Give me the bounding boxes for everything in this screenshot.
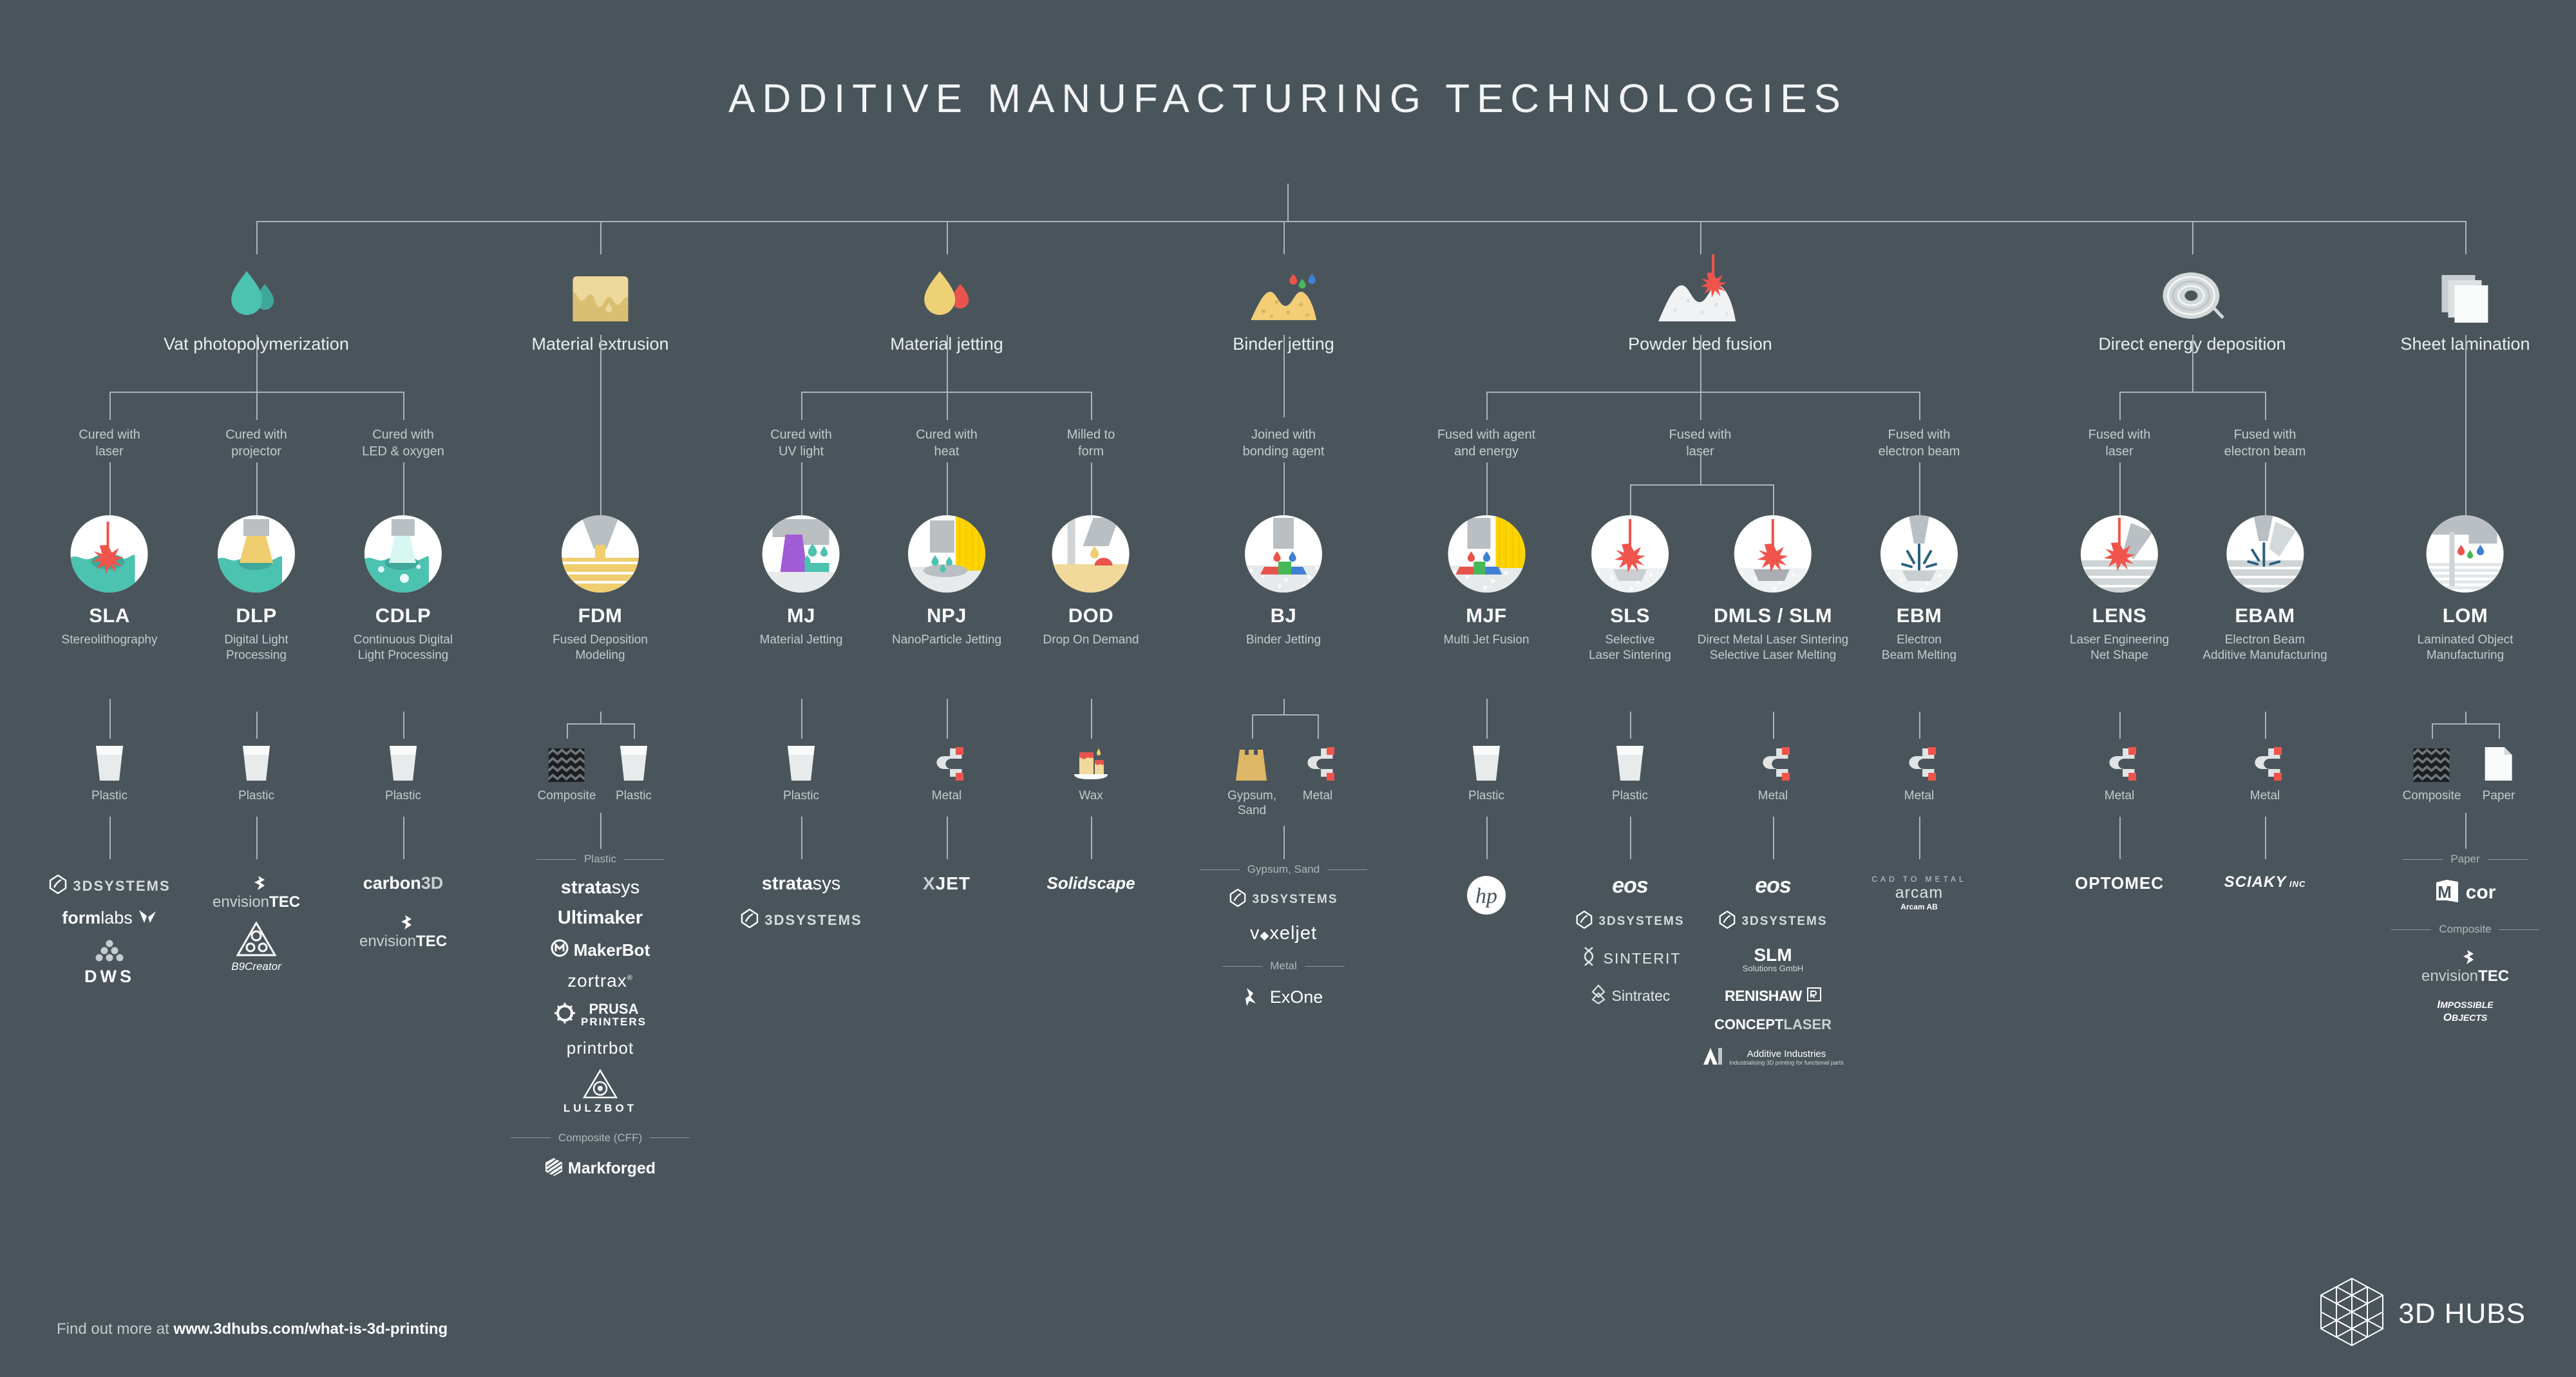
caption-stem-ebm (1919, 462, 1920, 515)
tech-to-material-ebam (2265, 712, 2266, 739)
bj-binder-head-icon (1245, 515, 1322, 593)
sinterit-logomark (1579, 946, 1598, 971)
drop-extrusion (600, 221, 601, 254)
material-label: Plastic (783, 788, 819, 803)
resin-drops-icon (164, 254, 349, 325)
material-to-brands-lens (2119, 817, 2121, 859)
tech-to-material-ebm (1919, 712, 1920, 739)
drop-sheetlam (2465, 221, 2467, 254)
tech-node-bj[interactable]: BJ Binder Jetting (1245, 515, 1322, 648)
brand-carbon3d: carbon3D (307, 875, 500, 892)
footer-link[interactable]: Find out more at www.3dhubs.com/what-is-… (57, 1320, 448, 1338)
brand-zortrax: zortrax® (504, 972, 697, 990)
family-pbf-bus (1486, 392, 1919, 393)
lom-blade-sheets-icon (2427, 515, 2504, 593)
tech-node-dmls-slm[interactable]: DMLS / SLM Direct Metal Laser SinteringS… (1698, 515, 1848, 663)
branch-drop-dlp (256, 392, 258, 420)
brand-subheading-gypsum-sand: Gypsum, Sand (1187, 863, 1380, 876)
caption-stem-dlp (256, 462, 258, 515)
material-node-metal-ebm: Metal (1902, 742, 1936, 803)
material-node-plastic-mj: Plastic (783, 742, 819, 803)
material-label: Gypsum,Sand (1227, 788, 1276, 818)
tech-to-material-dlp (256, 712, 258, 739)
cdlp-led-vat-icon (365, 515, 442, 593)
material-label: Plastic (1468, 788, 1504, 803)
tech-full-name: Stereolithography (62, 632, 158, 648)
family-matjet-stem (947, 335, 948, 392)
infographic-canvas: ADDITIVE MANUFACTURING TECHNOLOGIES Vat … (0, 0, 2576, 1377)
tech-node-lens[interactable]: LENS Laser EngineeringNet Shape (2070, 515, 2169, 663)
lom-material-bus (2432, 723, 2499, 725)
plastic-cup-icon (238, 742, 274, 782)
material-to-brands-ebam (2265, 817, 2266, 859)
formlabs-logomark (138, 909, 157, 927)
branch-caption-pbf-laser: Fused withlaser (1669, 426, 1732, 460)
markforged-logomark (545, 1157, 563, 1180)
plastic-cup-icon (783, 742, 819, 782)
paper-page-icon (2483, 742, 2515, 782)
plastic-cup-icon (1612, 742, 1648, 782)
exone-logomark (1244, 985, 1265, 1009)
tech-full-name: Digital LightProcessing (218, 632, 295, 663)
makerbot-logomark (551, 939, 569, 960)
brand-list-cdlp: carbon3D envisionTEC (307, 875, 500, 961)
material-node-plastic-mjf: Plastic (1468, 742, 1504, 803)
material-label: Metal (930, 788, 963, 803)
brand-additive-industries: Additive IndustriesIndustrialising 3D pr… (1676, 1047, 1870, 1069)
material-to-brands-sls (1630, 817, 1631, 859)
caption-stem-ebam (2265, 462, 2266, 515)
tech-node-ebm[interactable]: EBM ElectronBeam Melting (1880, 515, 1958, 663)
plastic-cup-icon (616, 742, 652, 782)
tech-node-cdlp[interactable]: CDLP Continuous DigitalLight Processing (354, 515, 453, 663)
tech-abbr: SLA (62, 604, 158, 627)
brand-slm-solutions: SLMSolutions GmbH (1676, 946, 1870, 974)
plastic-cup-icon (1468, 742, 1504, 782)
tech-to-material-mjf (1486, 699, 1488, 739)
tech-abbr: DLP (218, 604, 295, 627)
material-label: Plastic (91, 788, 128, 803)
drop-vat (256, 221, 258, 254)
footer-prefix: Find out more at (57, 1320, 173, 1338)
bj-material-drop-metal (1318, 714, 1319, 739)
material-to-brands-npj (947, 817, 948, 859)
family-binderjet-stem (1283, 335, 1285, 417)
material-node-wax-dod: Wax (1073, 742, 1109, 803)
fdm-nozzle-layers-icon (562, 515, 639, 593)
material-node-composite-lom: Composite (2403, 742, 2461, 803)
3d-systems-logomark (1718, 911, 1736, 932)
pbf-laser-bus (1630, 484, 1773, 486)
brand-subheading-composite-cff: Composite (CFF) (504, 1132, 697, 1144)
branch-drop-sls (1630, 484, 1631, 518)
branch-caption-ebm: Fused withelectron beam (1879, 426, 1960, 460)
tech-node-lom[interactable]: LOM Laminated ObjectManufacturing (2418, 515, 2514, 663)
material-to-brands-dod (1091, 817, 1092, 859)
branch-drop-mjf (1486, 392, 1488, 420)
composite-weave-icon (538, 742, 596, 782)
brand-subheading-paper: Paper (2369, 853, 2562, 866)
brand-list-fdm: Plastic stratasys Ultimaker MakerBot zor… (504, 849, 697, 1192)
npj-heat-head-icon (908, 515, 985, 593)
tech-abbr: DMLS / SLM (1698, 604, 1848, 627)
magnet-icon (2103, 742, 2136, 782)
footer-logo[interactable]: 3D HUBS (2320, 1277, 2526, 1350)
additive-industries-logomark (1702, 1047, 1724, 1069)
tech-abbr: CDLP (354, 604, 453, 627)
wire-spool-icon (2098, 254, 2286, 325)
branch-drop-mj (801, 392, 802, 420)
tech-node-sls[interactable]: SLS SelectiveLaser Sintering (1589, 515, 1671, 663)
drop-ded (2192, 221, 2193, 254)
lens-laser-deposition-icon (2081, 515, 2158, 593)
bj-material-drop-gypsum (1252, 714, 1253, 739)
branch-drop-cdlp (403, 392, 404, 420)
material-node-metal-lens: Metal (2103, 742, 2136, 803)
tech-node-npj[interactable]: NPJ NanoParticle Jetting (892, 515, 1001, 648)
branch-caption-dod: Milled toform (1067, 426, 1115, 460)
family-ded-bus (2119, 392, 2265, 393)
material-label: Plastic (385, 788, 421, 803)
brand-makerbot: MakerBot (504, 939, 697, 960)
footer-url: www.3dhubs.com/what-is-3d-printing (173, 1320, 448, 1338)
material-to-brands-dmls (1773, 817, 1774, 859)
powder-laser-icon (1628, 254, 1772, 325)
material-node-metal-npj: Metal (930, 742, 963, 803)
magnet-icon (1756, 742, 1790, 782)
branch-drop-lens (2119, 392, 2121, 420)
brand-list-lom: Paper M cor Composite envisionTEC IMPOSS… (2369, 849, 2562, 1036)
ink-drops-icon (890, 254, 1003, 325)
brand-stratasys: stratasys (504, 878, 697, 897)
svg-text:M: M (2438, 882, 2452, 902)
tech-full-name: Direct Metal Laser SinteringSelective La… (1698, 632, 1848, 663)
tech-full-name: Material Jetting (760, 632, 843, 648)
bj-material-bus (1252, 714, 1318, 716)
3d-systems-logomark (1575, 911, 1593, 932)
caption-stem-lens (2119, 462, 2121, 515)
gypsum-block-icon (1227, 742, 1276, 782)
brand-list-ebam: SCIAKY INC (2168, 875, 2362, 902)
material-label: Paper (2483, 788, 2515, 803)
lom-material-drop-composite (2432, 723, 2433, 739)
bj-material-stem (1283, 699, 1285, 714)
sintratec-logomark (1590, 984, 1607, 1008)
tech-abbr: BJ (1245, 604, 1322, 627)
branch-caption-cdlp: Cured withLED & oxygen (362, 426, 444, 460)
fdm-material-stem (600, 712, 601, 723)
branch-drop-dmls (1773, 484, 1774, 518)
brand-exone: ExOne (1187, 985, 1380, 1009)
material-label: Metal (1301, 788, 1334, 803)
brand-subheading-metal: Metal (1187, 960, 1380, 973)
magnet-icon (1301, 742, 1334, 782)
renishaw-logomark (1807, 987, 1821, 1005)
tech-abbr: MJF (1443, 604, 1529, 627)
brand-printrbot: printrbot (504, 1040, 697, 1057)
family-vat-stem (256, 335, 258, 392)
tech-node-fdm[interactable]: FDM Fused DepositionModeling (553, 515, 648, 663)
tech-to-material-mj (801, 699, 802, 739)
tech-full-name: Electron BeamAdditive Manufacturing (2202, 632, 2327, 663)
tech-full-name: SelectiveLaser Sintering (1589, 632, 1671, 663)
brand-voxeljet: v◆xeljet (1187, 924, 1380, 943)
family-ded-stem (2192, 335, 2193, 392)
branch-drop-dod (1091, 392, 1092, 420)
caption-stem-cdlp (403, 462, 404, 515)
tech-abbr: LENS (2070, 604, 2169, 627)
mjf-agent-head-icon (1448, 515, 1525, 593)
brand-concept-laser: CONCEPTLASER (1676, 1018, 1870, 1032)
tech-node-ebam[interactable]: EBAM Electron BeamAdditive Manufacturing (2202, 515, 2327, 663)
family-sheetlam-stem (2465, 335, 2467, 515)
brand-subheading-composite: Composite (2369, 923, 2562, 936)
caption-stem-dod (1091, 462, 1092, 515)
branch-drop-laser (1700, 392, 1701, 420)
plastic-cup-icon (385, 742, 421, 782)
brand-arcam: CAD TO METAL arcam Arcam AB (1823, 875, 2016, 911)
material-to-brands-sla (109, 817, 111, 859)
tech-to-material-dmls (1773, 712, 1774, 739)
material-node-composite-fdm: Composite (538, 742, 596, 803)
brand-mcor: M cor (2369, 878, 2562, 906)
tech-full-name: Drop On Demand (1043, 632, 1139, 648)
tech-abbr: DOD (1043, 604, 1139, 627)
branch-caption-lens: Fused withlaser (2088, 426, 2151, 460)
branch-drop-sla (109, 392, 111, 420)
tech-abbr: LOM (2418, 604, 2514, 627)
brand-list-bj: Gypsum, Sand 3DSYSTEMS v◆xeljet Metal Ex… (1187, 859, 1380, 1021)
tech-full-name: Laminated ObjectManufacturing (2418, 632, 2514, 663)
material-to-brands-dlp (256, 817, 258, 859)
sand-drops-icon (1233, 254, 1334, 325)
tech-node-mj[interactable]: MJ Material Jetting (760, 515, 843, 648)
fdm-material-drop-composite (567, 723, 568, 739)
tech-abbr: SLS (1589, 604, 1671, 627)
paper-sheets-icon (2400, 254, 2530, 325)
branch-caption-dlp: Cured withprojector (225, 426, 287, 460)
branch-caption-ebam: Fused withelectron beam (2224, 426, 2306, 460)
brand-renishaw: RENISHAW (1676, 987, 1870, 1005)
tech-to-material-sla (109, 699, 111, 739)
material-label: Plastic (238, 788, 274, 803)
material-to-brands-mj (801, 817, 802, 859)
material-label: Composite (2403, 788, 2461, 803)
family-pbf-stem (1700, 335, 1701, 392)
brand-markforged: Markforged (504, 1157, 697, 1180)
material-node-gypsum-sand: Gypsum,Sand (1227, 742, 1276, 818)
branch-drop-ebm (1919, 392, 1920, 420)
prusa-gear-logomark (554, 1002, 576, 1027)
lulzbot-logomark (504, 1068, 697, 1103)
brand-envisiontec: envisionTEC (2369, 949, 2562, 984)
3d-systems-logomark (1229, 889, 1247, 910)
tech-to-material-dod (1091, 699, 1092, 739)
brand-ultimaker: Ultimaker (504, 909, 697, 927)
brand-3d-systems: 3DSYSTEMS (1187, 889, 1380, 910)
mcor-logomark: M (2435, 878, 2461, 906)
material-node-plastic-fdm: Plastic (616, 742, 652, 803)
material-to-brands-fdm (600, 813, 601, 849)
material-label: Wax (1073, 788, 1109, 803)
material-node-plastic-sls: Plastic (1612, 742, 1648, 803)
brand-impossible-objects: IMPOSSIBLEOBJECTS (2369, 998, 2562, 1024)
branch-drop-npj (947, 392, 948, 420)
tech-to-material-sls (1630, 712, 1631, 739)
tech-abbr: EBAM (2202, 604, 2327, 627)
plastic-cup-icon (91, 742, 128, 782)
caption-stem-mj (801, 462, 802, 515)
family-extrusion-stem (600, 335, 601, 515)
tech-full-name: Fused DepositionModeling (553, 632, 648, 663)
tech-abbr: EBM (1880, 604, 1958, 627)
footer-brand-name: 3D HUBS (2398, 1298, 2526, 1330)
3d-systems-logomark (740, 909, 759, 931)
drop-matjet (947, 221, 948, 254)
material-label: Metal (1756, 788, 1790, 803)
material-label: Metal (1902, 788, 1936, 803)
material-label: Plastic (616, 788, 652, 803)
tech-node-mjf[interactable]: MJF Multi Jet Fusion (1443, 515, 1529, 648)
mj-uv-head-icon (762, 515, 840, 593)
tech-node-dlp[interactable]: DLP Digital LightProcessing (218, 515, 295, 663)
tech-full-name: ElectronBeam Melting (1880, 632, 1958, 663)
tech-node-sla[interactable]: SLA Stereolithography (62, 515, 158, 648)
material-node-plastic-sla: Plastic (91, 742, 128, 803)
brand-list-dod: Solidscape (994, 875, 1188, 904)
branch-caption-bj: Joined withbonding agent (1243, 426, 1325, 460)
material-label: Plastic (1612, 788, 1648, 803)
material-node-plastic-cdlp: Plastic (385, 742, 421, 803)
tech-full-name: Laser EngineeringNet Shape (2070, 632, 2169, 663)
ebm-electron-powder-icon (1880, 515, 1958, 593)
fdm-material-bus (567, 723, 634, 725)
3d-systems-logomark (48, 875, 68, 897)
sls-laser-powder-icon (1591, 515, 1669, 593)
magnet-icon (930, 742, 963, 782)
brand-sciaky: SCIAKY INC (2168, 875, 2362, 890)
material-to-brands-ebm (1919, 817, 1920, 859)
lom-material-drop-paper (2499, 723, 2500, 739)
dmls-laser-powder-icon (1734, 515, 1812, 593)
arcam-subtext: Arcam AB (1823, 902, 2016, 911)
melted-block-icon (531, 254, 668, 325)
branch-caption-sla: Cured withlaser (79, 426, 140, 460)
material-label: Metal (2103, 788, 2136, 803)
ebam-electron-deposition-icon (2226, 515, 2304, 593)
page-title: ADDITIVE MANUFACTURING TECHNOLOGIES (0, 76, 2576, 122)
tech-to-material-npj (947, 699, 948, 739)
tech-to-material-lens (2119, 712, 2121, 739)
material-to-brands-bj (1283, 826, 1285, 859)
tech-abbr: NPJ (892, 604, 1001, 627)
tech-abbr: FDM (553, 604, 648, 627)
material-to-brands-lom (2465, 813, 2467, 849)
material-node-metal-dmls: Metal (1756, 742, 1790, 803)
tech-abbr: MJ (760, 604, 843, 627)
branch-caption-mj: Cured withUV light (770, 426, 832, 460)
brand-subheading-plastic: Plastic (504, 853, 697, 866)
material-label: Metal (2248, 788, 2282, 803)
tech-to-material-cdlp (403, 712, 404, 739)
caption-stem-bj (1283, 462, 1285, 515)
drop-binderjet (1283, 221, 1285, 254)
tech-node-dod[interactable]: DOD Drop On Demand (1043, 515, 1139, 648)
magnet-icon (2248, 742, 2282, 782)
composite-weave-icon (2403, 742, 2461, 782)
svg-text:hp: hp (1475, 884, 1497, 908)
brand-prusa-printers: PRUSAPRINTERS (504, 1002, 697, 1028)
sla-laser-vat-icon (71, 515, 148, 593)
brand-list-ebm: CAD TO METAL arcam Arcam AB (1823, 875, 2016, 923)
candle-icon (1073, 742, 1109, 782)
dlp-projector-vat-icon (218, 515, 295, 593)
branch-caption-npj: Cured withheat (916, 426, 978, 460)
caption-stem-sla (109, 462, 111, 515)
arcam-tagline: CAD TO METAL (1823, 875, 2016, 884)
brand-envisiontec: envisionTEC (307, 914, 500, 949)
material-node-metal-bj: Metal (1301, 742, 1334, 803)
hexagon-mesh-logo-icon (2320, 1277, 2384, 1350)
caption-stem-mjf (1486, 462, 1488, 515)
material-node-metal-ebam: Metal (2248, 742, 2282, 803)
brand-3d-systems: 3DSYSTEMS (705, 909, 898, 931)
material-node-paper-lom: Paper (2483, 742, 2515, 803)
branch-caption-mjf: Fused with agentand energy (1437, 426, 1535, 460)
material-label: Composite (538, 788, 596, 803)
caption-stem-npj (947, 462, 948, 515)
lom-material-stem (2465, 712, 2467, 723)
tech-full-name: Binder Jetting (1245, 632, 1322, 648)
fdm-material-drop-plastic (634, 723, 635, 739)
root-trunk-line (1287, 184, 1289, 221)
tech-full-name: Multi Jet Fusion (1443, 632, 1529, 648)
branch-drop-ebam (2265, 392, 2266, 420)
material-to-brands-mjf (1486, 817, 1488, 859)
brand-lulzbot: LULZBOT (504, 1068, 697, 1115)
material-to-brands-cdlp (403, 817, 404, 859)
tech-full-name: NanoParticle Jetting (892, 632, 1001, 648)
drop-pbf (1700, 221, 1701, 254)
root-bus-line (256, 221, 2467, 222)
brand-solidscape: Solidscape (994, 875, 1188, 892)
dod-mill-icon (1052, 515, 1130, 593)
tech-full-name: Continuous DigitalLight Processing (354, 632, 453, 663)
magnet-icon (1902, 742, 1936, 782)
material-node-plastic-dlp: Plastic (238, 742, 274, 803)
